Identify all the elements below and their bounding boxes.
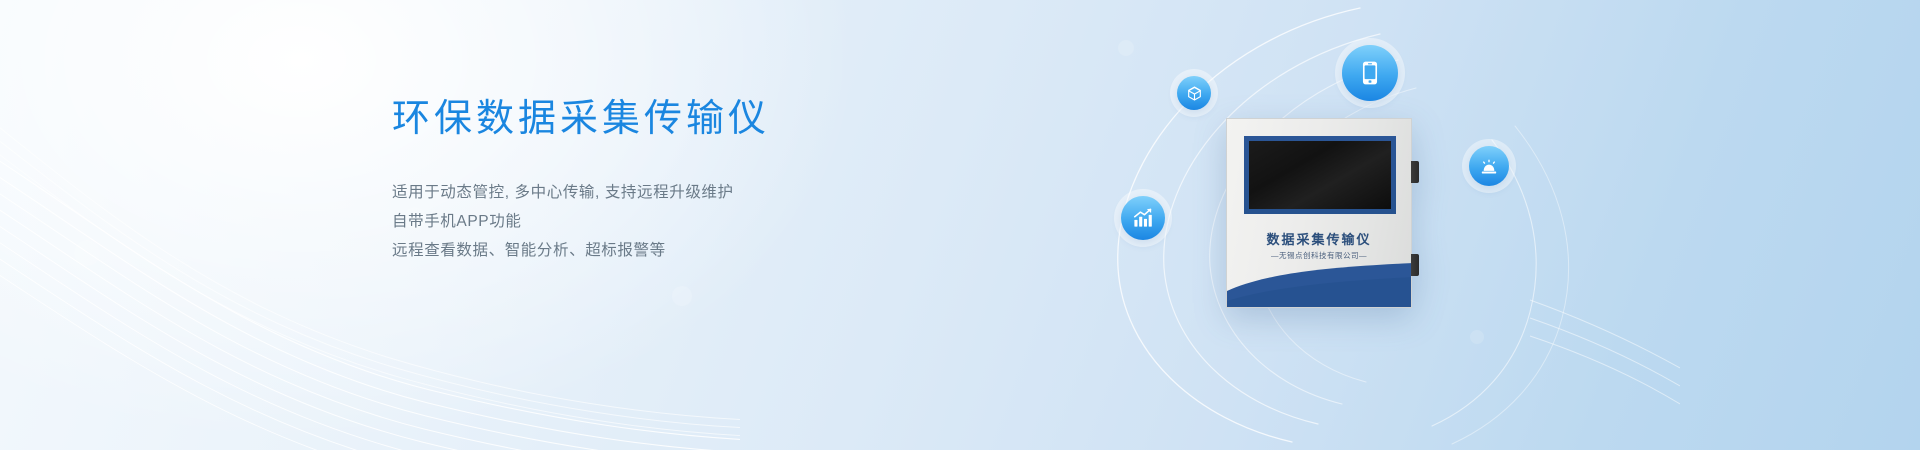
device-side-connector xyxy=(1411,161,1419,183)
product-visual: 数据采集传输仪 —无锡点创科技有限公司— xyxy=(1060,0,1680,450)
product-banner: 环保数据采集传输仪 适用于动态管控, 多中心传输, 支持远程升级维护 自带手机A… xyxy=(0,0,1920,450)
alarm-icon[interactable] xyxy=(1469,146,1509,186)
page-title: 环保数据采集传输仪 xyxy=(392,96,952,144)
device-screen-bezel xyxy=(1244,136,1396,214)
subtitle-line-3: 远程查看数据、智能分析、超标报警等 xyxy=(392,236,952,265)
device-decorative-wave xyxy=(1227,261,1412,307)
subtitle-line-2: 自带手机APP功能 xyxy=(392,207,952,236)
phone-icon[interactable] xyxy=(1342,45,1398,101)
cube-icon[interactable] xyxy=(1177,76,1211,110)
banner-text-block: 环保数据采集传输仪 适用于动态管控, 多中心传输, 支持远程升级维护 自带手机A… xyxy=(392,96,952,265)
device-display xyxy=(1249,141,1391,209)
banner-subtitle-list: 适用于动态管控, 多中心传输, 支持远程升级维护 自带手机APP功能 远程查看数… xyxy=(392,178,952,265)
subtitle-line-1: 适用于动态管控, 多中心传输, 支持远程升级维护 xyxy=(392,178,952,207)
bokeh-circle xyxy=(74,240,100,266)
bokeh-circle xyxy=(672,286,692,306)
device-side-connector xyxy=(1411,254,1419,276)
device-brand-label: 数据采集传输仪 xyxy=(1227,229,1411,248)
device-enclosure: 数据采集传输仪 —无锡点创科技有限公司— xyxy=(1226,118,1412,308)
chart-icon[interactable] xyxy=(1121,196,1165,240)
data-acquisition-device: 数据采集传输仪 —无锡点创科技有限公司— xyxy=(1226,118,1412,308)
device-company-label: —无锡点创科技有限公司— xyxy=(1227,250,1411,261)
